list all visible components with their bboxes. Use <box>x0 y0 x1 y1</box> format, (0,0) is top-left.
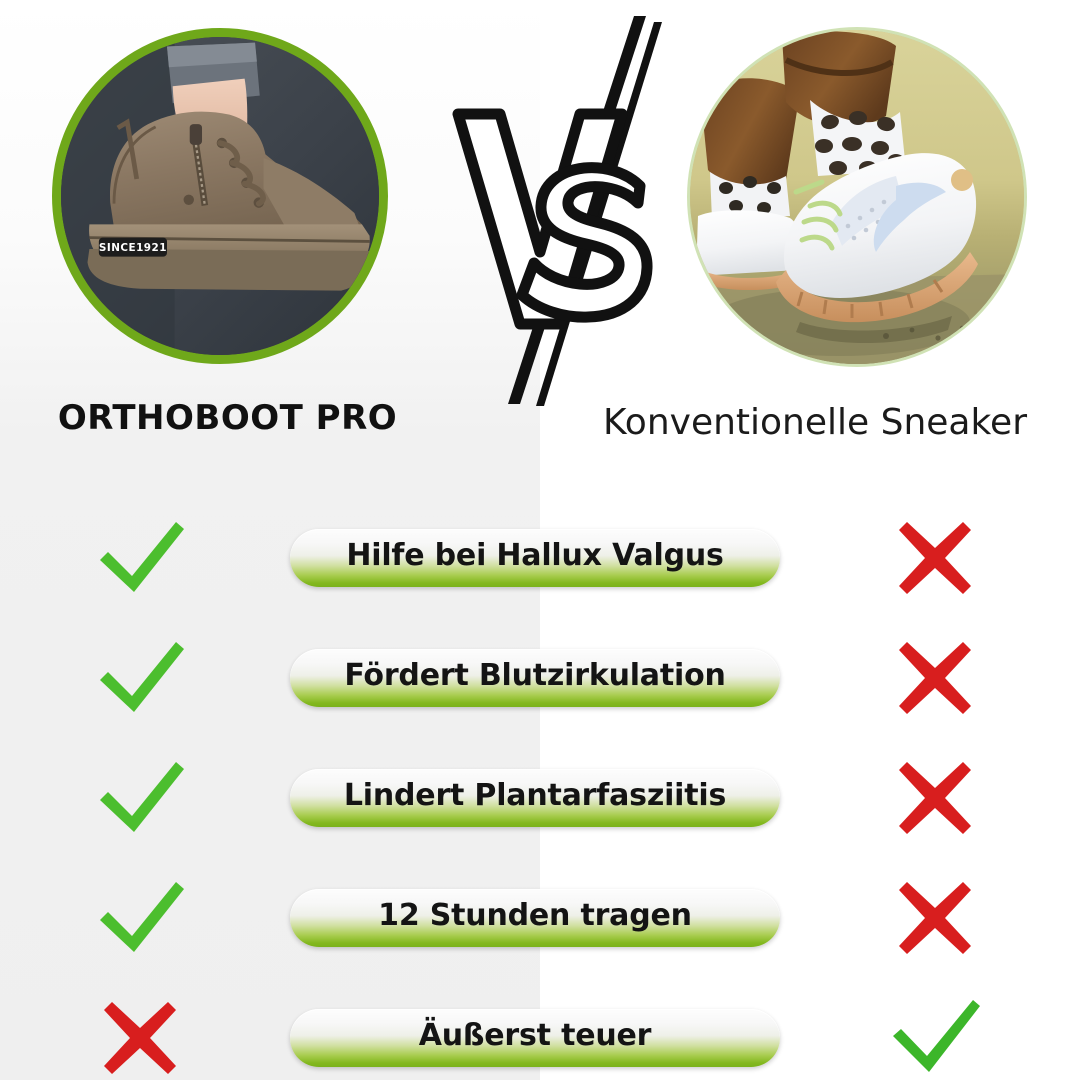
feature-label: Fördert Blutzirkulation <box>344 661 725 691</box>
feature-pill: Fördert Blutzirkulation <box>290 649 780 707</box>
left-product-photo: SINCE1921 <box>52 28 388 364</box>
comparison-row: Fördert Blutzirkulation <box>0 618 1080 738</box>
cross-icon <box>895 638 975 718</box>
feature-pill-cell: 12 Stunden tragen <box>280 889 790 947</box>
feature-label: Hilfe bei Hallux Valgus <box>346 541 723 571</box>
sneaker-photo-illustration <box>690 30 1024 364</box>
vs-logo-icon <box>448 14 678 406</box>
comparison-row: Äußerst teuer <box>0 978 1080 1080</box>
right-mark-cell <box>790 638 1080 718</box>
feature-label: 12 Stunden tragen <box>378 901 692 931</box>
feature-pill: Lindert Plantarfasziitis <box>290 769 780 827</box>
feature-pill: Äußerst teuer <box>290 1009 780 1067</box>
comparison-row: 12 Stunden tragen <box>0 858 1080 978</box>
orthoboot-photo-illustration: SINCE1921 <box>61 37 379 355</box>
check-icon <box>887 992 983 1080</box>
check-icon <box>92 512 188 604</box>
check-icon <box>92 752 188 844</box>
left-mark-cell <box>0 632 280 724</box>
feature-pill-cell: Hilfe bei Hallux Valgus <box>280 529 790 587</box>
feature-pill-cell: Fördert Blutzirkulation <box>280 649 790 707</box>
cross-icon <box>895 878 975 958</box>
left-mark-cell <box>0 872 280 964</box>
comparison-infographic: SINCE1921 <box>0 0 1080 1080</box>
cross-icon <box>895 758 975 838</box>
right-mark-cell <box>790 518 1080 598</box>
right-mark-cell <box>790 992 1080 1080</box>
check-icon <box>92 872 188 964</box>
feature-pill-cell: Lindert Plantarfasziitis <box>280 769 790 827</box>
feature-label: Äußerst teuer <box>419 1021 652 1051</box>
left-product-title: ORTHOBOOT PRO <box>0 398 455 438</box>
feature-pill: 12 Stunden tragen <box>290 889 780 947</box>
vs-badge <box>448 14 678 406</box>
feature-label: Lindert Plantarfasziitis <box>344 781 726 811</box>
left-mark-cell <box>0 512 280 604</box>
comparison-row: Hilfe bei Hallux Valgus <box>0 498 1080 618</box>
feature-pill-cell: Äußerst teuer <box>280 1009 790 1067</box>
comparison-rows: Hilfe bei Hallux Valgus Fördert Blutzirk… <box>0 498 1080 1080</box>
cross-icon <box>100 998 180 1078</box>
left-mark-cell <box>0 752 280 844</box>
right-product-photo <box>690 30 1024 364</box>
svg-text:SINCE1921: SINCE1921 <box>99 242 167 254</box>
cross-icon <box>895 518 975 598</box>
right-product-title: Konventionelle Sneaker <box>560 402 1070 443</box>
right-mark-cell <box>790 878 1080 958</box>
left-mark-cell <box>0 998 280 1078</box>
right-mark-cell <box>790 758 1080 838</box>
since-badge: SINCE1921 <box>99 238 167 257</box>
comparison-row: Lindert Plantarfasziitis <box>0 738 1080 858</box>
check-icon <box>92 632 188 724</box>
feature-pill: Hilfe bei Hallux Valgus <box>290 529 780 587</box>
